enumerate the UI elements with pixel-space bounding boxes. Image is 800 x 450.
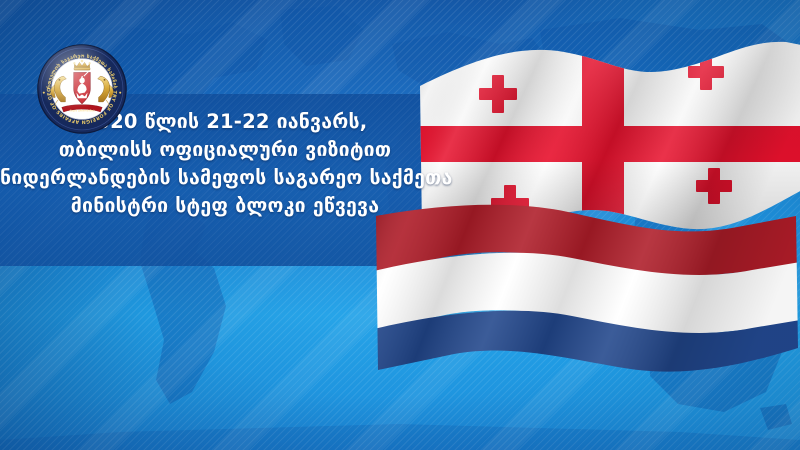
banner-canvas: 2020 წლის 21-22 იანვარს, თბილისს ოფიციალ…: [0, 0, 800, 450]
caption-line-3: ნიდერლანდების სამეფოს საგარეო საქმეთა: [0, 164, 450, 192]
netherlands-flag: [372, 198, 800, 394]
caption-line-2: თბილისს ოფიციალური ვიზიტით: [0, 136, 450, 164]
ministry-emblem-icon: საქართველოს საგარეო საქმეთა სამინისტრო M…: [36, 43, 128, 135]
